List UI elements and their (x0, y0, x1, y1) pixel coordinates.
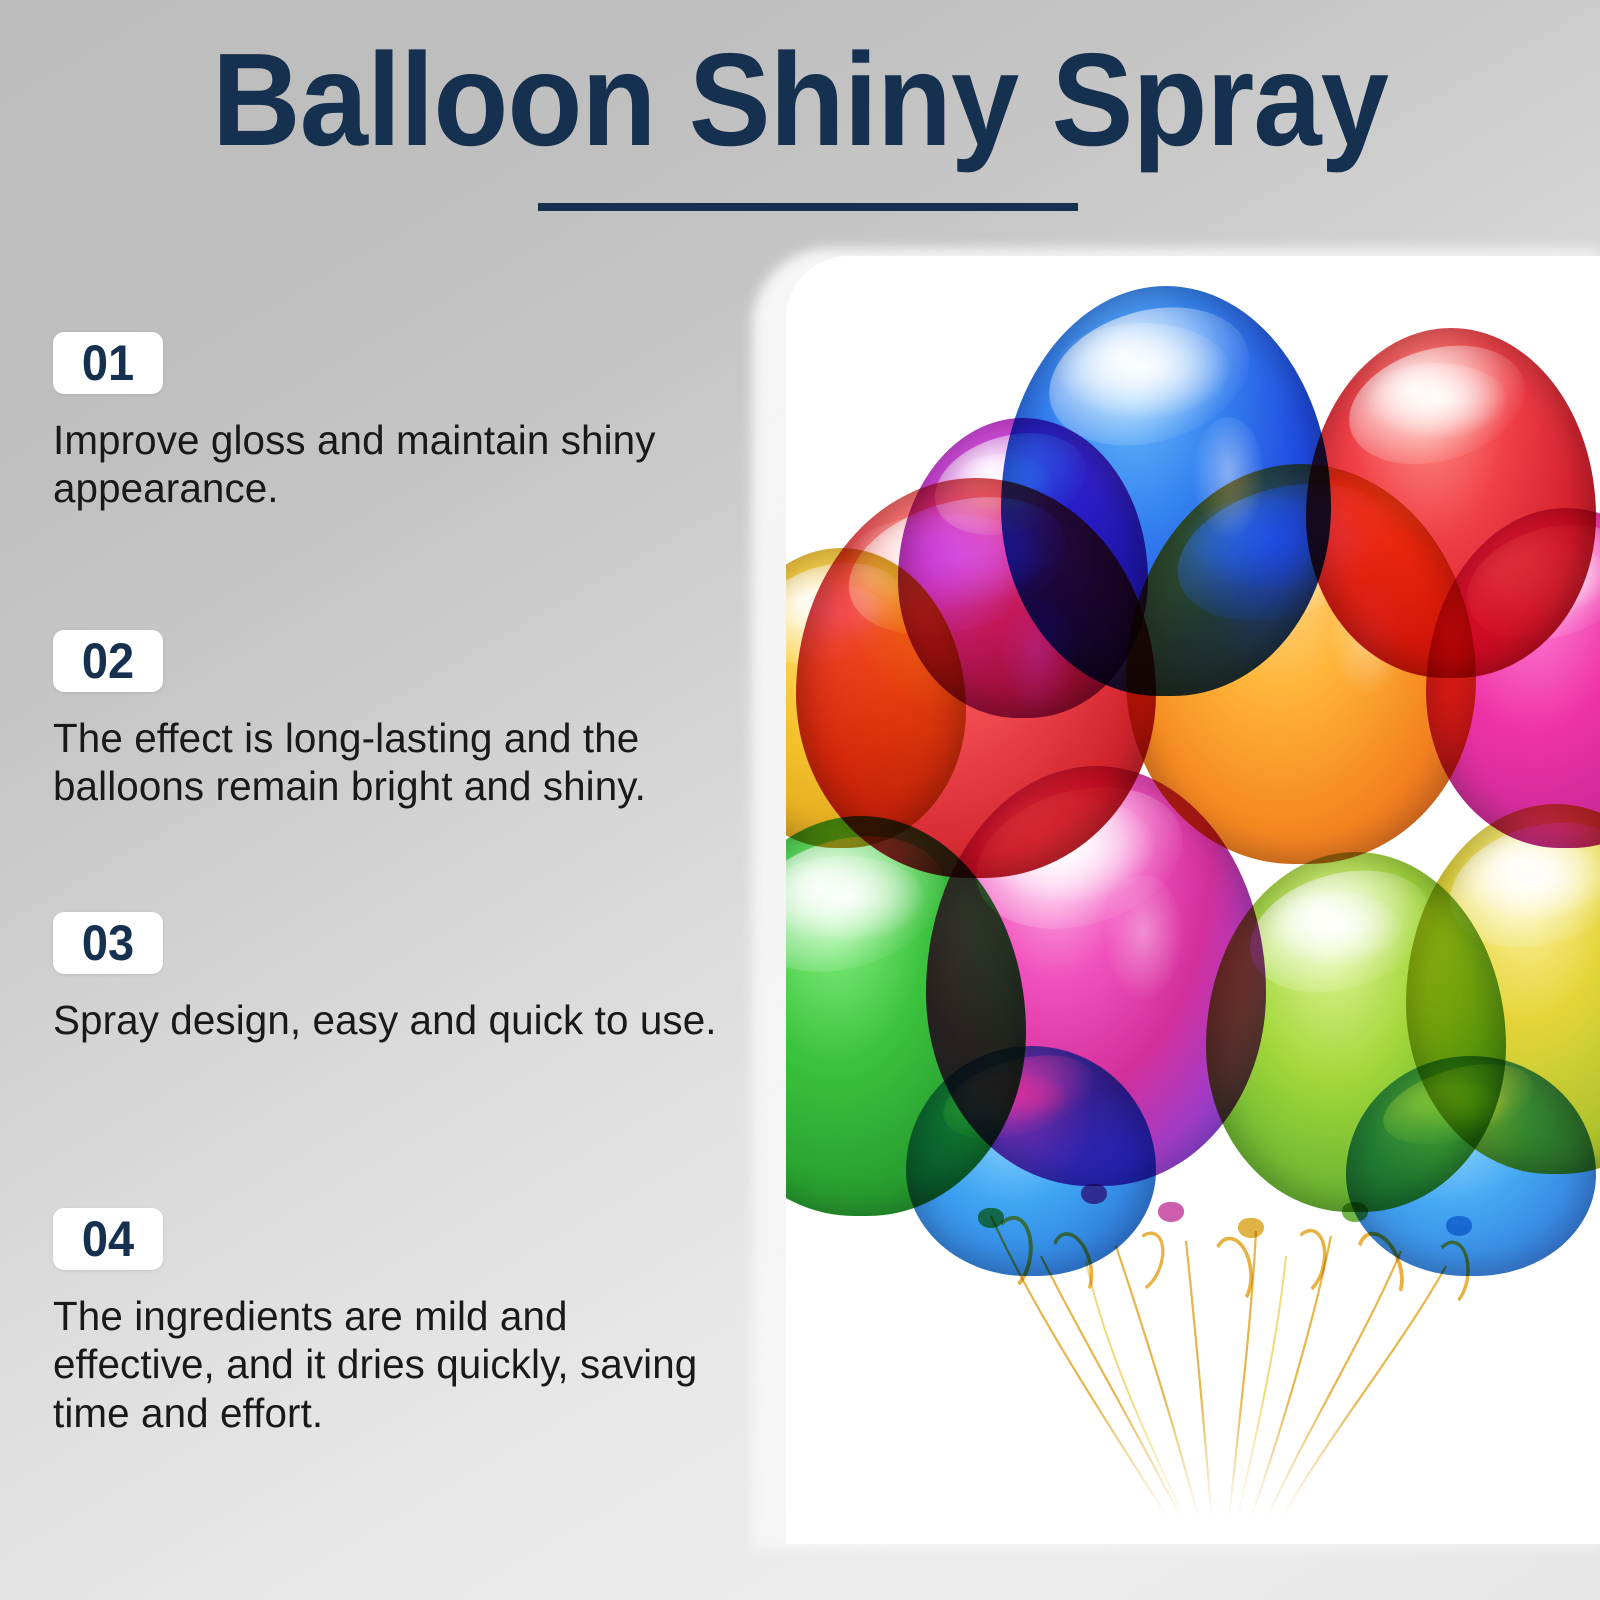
balloon-neck (1238, 1218, 1264, 1238)
feature-item-02: 02 The effect is long-lasting and the ba… (53, 630, 743, 811)
feature-text-03: Spray design, easy and quick to use. (53, 996, 723, 1044)
feature-item-01: 01 Improve gloss and maintain shiny appe… (53, 332, 743, 513)
feature-item-04: 04 The ingredients are mild and effectiv… (53, 1208, 743, 1437)
balloon-bunch-photo (786, 256, 1600, 1544)
poster-canvas: Balloon Shiny Spray 01 Improve gloss and… (0, 0, 1600, 1600)
feature-number-01: 01 (69, 332, 146, 394)
balloon-neck (1158, 1202, 1184, 1222)
balloon-neck (1342, 1202, 1368, 1222)
feature-number-badge-01: 01 (53, 332, 163, 394)
balloon-neck (1446, 1216, 1472, 1236)
feature-number-03: 03 (69, 912, 146, 974)
feature-number-02: 02 (69, 630, 146, 692)
feature-number-badge-03: 03 (53, 912, 163, 974)
title-underline (538, 203, 1078, 211)
feature-number-badge-04: 04 (53, 1208, 163, 1270)
balloon-neck (1081, 1184, 1107, 1204)
feature-item-03: 03 Spray design, easy and quick to use. (53, 912, 743, 1044)
feature-text-01: Improve gloss and maintain shiny appeara… (53, 416, 723, 513)
feature-number-badge-02: 02 (53, 630, 163, 692)
photo-bottom-fade (786, 1394, 1600, 1544)
page-title: Balloon Shiny Spray (56, 34, 1544, 166)
feature-text-02: The effect is long-lasting and the ballo… (53, 714, 723, 811)
feature-text-04: The ingredients are mild and effective, … (53, 1292, 723, 1437)
feature-number-04: 04 (69, 1208, 146, 1270)
product-photo-panel (786, 256, 1600, 1544)
